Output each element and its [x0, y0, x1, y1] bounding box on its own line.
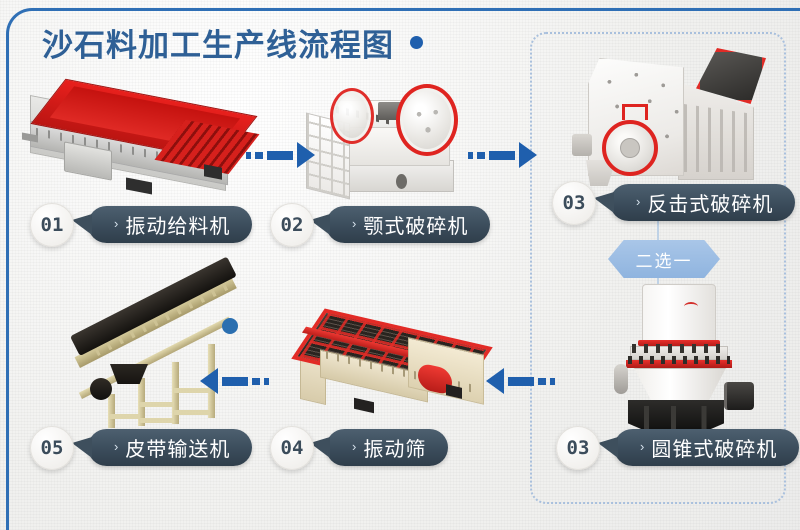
step-label-01[interactable]: › 振动给料机 [88, 206, 252, 243]
arrow-head [519, 142, 537, 168]
impact-crusher-image [566, 42, 778, 192]
conveyor-belt [70, 256, 237, 356]
arrow-head [297, 142, 315, 168]
vibrating-feeder-image [22, 88, 252, 200]
arrow-dot-small [246, 152, 251, 159]
feeder-foot [126, 177, 152, 194]
step-label-text: 圆锥式破碎机 [651, 433, 777, 462]
page-title-group: 沙石料加工生产线流程图 [42, 20, 423, 65]
step-badge-02: 02 [270, 203, 314, 247]
chevron-right-icon: › [114, 216, 118, 231]
cone-drive-motor [724, 382, 754, 410]
cone-collar-bolts [632, 344, 726, 353]
cone-body [630, 368, 730, 406]
conveyor-brace [174, 410, 210, 415]
conveyor-head-pulley [222, 318, 238, 334]
chevron-right-icon: › [352, 216, 356, 231]
impact-red-marker [622, 104, 648, 120]
step-badge-03-impact: 03 [552, 181, 596, 225]
step-label-03-cone[interactable]: › 圆锥式破碎机 [614, 429, 799, 466]
screen-foot [354, 398, 374, 414]
arrow-dot-small [468, 152, 473, 159]
step-label-02[interactable]: › 颚式破碎机 [326, 206, 490, 243]
impact-rear-ribs [684, 104, 750, 172]
chevron-right-icon: › [114, 439, 118, 454]
arrow-feeder-to-jaw [246, 142, 315, 168]
step-label-text: 反击式破碎机 [647, 188, 773, 217]
step-label-text: 振动筛 [363, 433, 426, 462]
step-label-04[interactable]: › 振动筛 [326, 429, 448, 466]
chevron-right-icon: › [636, 194, 640, 209]
arrow-shaft [222, 377, 248, 386]
step-label-05[interactable]: › 皮带输送机 [88, 429, 252, 466]
step-label-03-impact[interactable]: › 反击式破碎机 [610, 184, 795, 221]
cone-rotation-arrow-icon [684, 302, 698, 311]
jaw-flywheel-hub-dots [412, 104, 444, 138]
conveyor-leg [108, 394, 115, 428]
chevron-right-icon: › [640, 439, 644, 454]
step-label-text: 颚式破碎机 [363, 210, 468, 239]
impact-flywheel-hub [620, 138, 640, 158]
arrow-head [486, 368, 504, 394]
vibrating-screen-image [296, 316, 496, 428]
step-badge-03-cone: 03 [556, 426, 600, 470]
chevron-right-icon: › [352, 439, 356, 454]
arrow-dot-large [477, 152, 485, 159]
arrow-dot-large [252, 378, 260, 385]
arrow-dot-small [264, 378, 269, 385]
arrow-shaft [508, 377, 534, 386]
cone-upper-drum [642, 284, 716, 342]
impact-side-motor [572, 134, 592, 156]
arrow-dot-small [550, 378, 555, 385]
conveyor-brace [140, 402, 174, 407]
page-title: 沙石料加工生产线流程图 [42, 20, 394, 65]
cone-accumulator [614, 364, 628, 394]
conveyor-tail-pulley [90, 378, 112, 400]
conveyor-brace [110, 414, 140, 419]
arrow-dot-large [255, 152, 263, 159]
arrow-crusher-to-screen [486, 368, 555, 394]
choose-one-badge: 二选一 [608, 240, 720, 278]
cone-crusher-image [600, 280, 770, 430]
flowchart-canvas: 沙石料加工生产线流程图 二选一 [0, 0, 800, 530]
jaw-inspection-hole [396, 174, 407, 189]
jaw-crusher-image [300, 72, 468, 204]
arrow-shaft [267, 151, 293, 160]
step-badge-01: 01 [30, 203, 74, 247]
step-badge-04: 04 [270, 426, 314, 470]
jaw-flywheel-rear [330, 88, 374, 144]
step-label-text: 振动给料机 [125, 210, 230, 239]
step-label-text: 皮带输送机 [125, 433, 230, 462]
arrow-screen-to-conveyor [200, 368, 269, 394]
conveyor-brace [140, 418, 174, 423]
arrow-shaft [489, 151, 515, 160]
arrow-dot-large [538, 378, 546, 385]
cone-lower-bolts [628, 356, 730, 364]
blue-dot-icon [410, 36, 423, 49]
arrow-jaw-to-impact [468, 142, 537, 168]
step-badge-05: 05 [30, 426, 74, 470]
arrow-head [200, 368, 218, 394]
cone-base-legs [636, 406, 716, 430]
